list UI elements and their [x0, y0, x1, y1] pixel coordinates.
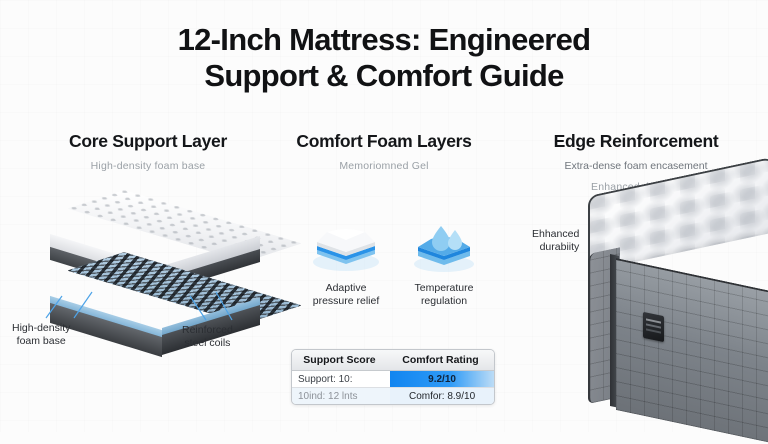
- feature-caption-adaptive-line-2: pressure relief: [298, 295, 394, 308]
- column-title-edge-reinforcement: Edge Reinforcement: [508, 131, 764, 152]
- callout-foam-base-line-1: High-density: [12, 322, 70, 335]
- column-heading-comfort-foam: Comfort Foam Layers Memoriomned Gel: [268, 131, 500, 173]
- feature-caption-temperature-line-2: regulation: [396, 295, 492, 308]
- mattress-corner-photo: [588, 196, 768, 412]
- feature-caption-adaptive: Adaptive pressure relief: [298, 282, 394, 308]
- stats-row-comfort: 10ind: 12 lnts Comfor: 8.9/10: [292, 387, 494, 404]
- feature-caption-temperature-line-1: Temperature: [396, 282, 492, 295]
- stats-header-comfort-rating: Comfort Rating: [387, 350, 494, 370]
- callout-foam-base-line-2: foam base: [12, 335, 70, 348]
- page-title-line-2: Support & Comfort Guide: [0, 58, 768, 94]
- stats-row-support-label: Support: 10:: [292, 371, 390, 387]
- poster-canvas: 12-Inch Mattress: Engineered Support & C…: [0, 0, 768, 432]
- column-heading-core-support: Core Support Layer High-density foam bas…: [24, 131, 272, 173]
- stats-row-support-value: 9.2/10: [390, 371, 494, 387]
- stats-header-support-score: Support Score: [292, 350, 387, 370]
- callout-reinforced-steel-coils: Reinforced steel coils: [182, 324, 233, 350]
- feature-caption-temperature: Temperature regulation: [396, 282, 492, 308]
- mattress-front-side-panel: [616, 258, 768, 444]
- stats-row-comfort-value: Comfor: 8.9/10: [390, 388, 494, 404]
- stats-table-header-row: Support Score Comfort Rating: [292, 350, 494, 371]
- feature-caption-adaptive-line-1: Adaptive: [298, 282, 394, 295]
- callout-coils-line-1: Reinforced: [182, 324, 233, 337]
- stats-row-support: Support: 10: 9.2/10: [292, 371, 494, 387]
- callout-enhanced-durability: Ehhanced durabiity: [532, 228, 579, 254]
- callout-edge-line-1: Ehhanced: [532, 228, 579, 241]
- column-title-comfort-foam: Comfort Foam Layers: [268, 131, 500, 152]
- column-subtitle-comfort-foam: Memoriomned Gel: [268, 159, 500, 173]
- callout-coils-line-2: steel coils: [182, 337, 233, 350]
- callout-edge-line-2: durabiity: [532, 241, 579, 254]
- mattress-label-tag: [643, 312, 664, 342]
- foam-layers-icon: [298, 218, 394, 274]
- exploded-layer-diagram: [14, 188, 266, 336]
- page-title-line-1: 12-Inch Mattress: Engineered: [0, 22, 768, 58]
- feature-temperature-regulation: Temperature regulation: [396, 218, 492, 308]
- stats-row-comfort-label: 10ind: 12 lnts: [292, 388, 390, 404]
- page-title: 12-Inch Mattress: Engineered Support & C…: [0, 22, 768, 94]
- stats-table: Support Score Comfort Rating Support: 10…: [291, 349, 495, 405]
- water-droplet-gel-icon: [396, 218, 492, 274]
- feature-adaptive-pressure-relief: Adaptive pressure relief: [298, 218, 394, 308]
- column-title-core-support: Core Support Layer: [24, 131, 272, 152]
- column-subtitle-core-support: High-density foam base: [24, 159, 272, 173]
- callout-high-density-foam-base: High-density foam base: [12, 322, 70, 348]
